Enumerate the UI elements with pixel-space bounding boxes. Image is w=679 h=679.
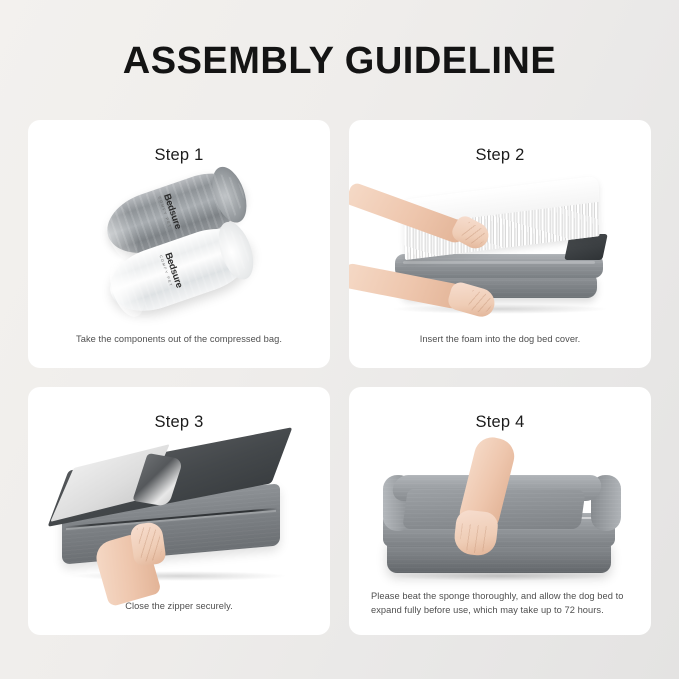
step-4-title: Step 4 xyxy=(349,413,651,432)
compressed-rolls-icon: Bedsure COMFY PET Bedsure COMFY PET xyxy=(77,159,280,337)
drop-shadow xyxy=(391,304,608,314)
zipper-closing-icon xyxy=(28,441,330,589)
step-4-illustration xyxy=(349,441,651,589)
step-1-caption: Take the components out of the compresse… xyxy=(50,333,308,346)
step-card-1: Step 1 Bedsure COMFY PET Bedsure xyxy=(28,120,330,368)
step-2-caption: Insert the foam into the dog bed cover. xyxy=(371,333,629,346)
step-4-caption: Please beat the sponge thoroughly, and a… xyxy=(371,590,629,617)
finger-detail xyxy=(137,525,164,562)
assembly-guideline-page: ASSEMBLY GUIDELINE Step 1 Bedsure COMFY … xyxy=(0,0,679,679)
step-card-2: Step 2 xyxy=(349,120,651,368)
step-3-caption: Close the zipper securely. xyxy=(50,600,308,613)
step-2-title: Step 2 xyxy=(349,146,651,165)
finished-dog-bed-icon xyxy=(349,441,651,589)
step-card-4: Step 4 xyxy=(349,387,651,635)
step-2-illustration xyxy=(349,174,651,322)
finger-detail xyxy=(459,523,492,554)
finger-detail xyxy=(461,222,489,248)
finger-detail xyxy=(467,290,494,315)
step-1-title: Step 1 xyxy=(28,146,330,165)
steps-grid: Step 1 Bedsure COMFY PET Bedsure xyxy=(28,120,651,648)
step-3-illustration xyxy=(28,441,330,589)
foam-insertion-icon xyxy=(349,174,651,322)
step-1-illustration: Bedsure COMFY PET Bedsure COMFY PET xyxy=(28,174,330,322)
step-card-3: Step 3 Close the zipper xyxy=(28,387,330,635)
page-title: ASSEMBLY GUIDELINE xyxy=(0,40,679,83)
